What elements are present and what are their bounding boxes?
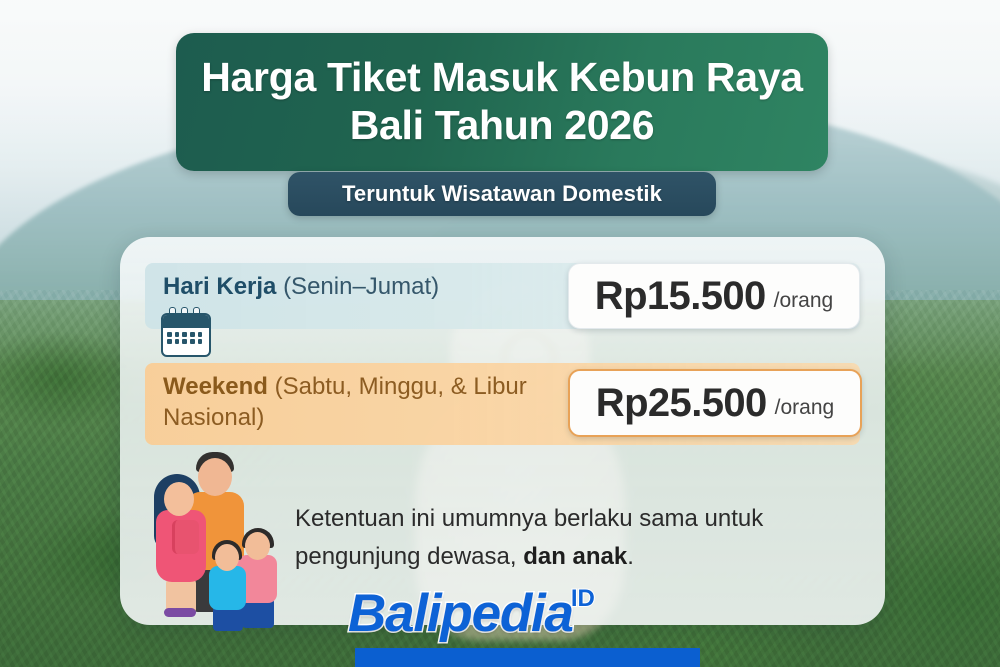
weekend-price-unit: /orang — [775, 396, 835, 420]
calendar-icon — [160, 307, 208, 355]
weekend-price-amount: Rp25.500 — [596, 381, 767, 426]
brand-name: Balipedia — [348, 583, 573, 644]
price-chip-weekend: Rp25.500 /orang — [568, 369, 862, 437]
note-bold: dan anak — [523, 543, 627, 570]
weekend-label-strong: Weekend — [163, 373, 268, 400]
subtitle-label: Teruntuk Wisatawan Domestik — [342, 181, 662, 207]
infographic-canvas: Harga Tiket Masuk Kebun Raya Bali Tahun … — [0, 0, 1000, 667]
weekend-label: Weekend (Sabtu, Minggu, & Libur Nasional… — [145, 363, 593, 433]
weekday-price-unit: /orang — [774, 289, 834, 313]
brand-bar — [355, 648, 700, 667]
note-text: Ketentuan ini umumnya berlaku sama untuk… — [295, 500, 855, 576]
title-line-1: Harga Tiket Masuk Kebun Raya — [201, 54, 803, 102]
weekday-label-strong: Hari Kerja — [163, 273, 276, 300]
brand-suffix: ID — [571, 585, 595, 613]
page-title: Harga Tiket Masuk Kebun Raya Bali Tahun … — [183, 54, 821, 150]
family-illustration — [150, 448, 290, 620]
weekday-label: Hari Kerja (Senin–Jumat) — [145, 263, 439, 303]
price-chip-weekday: Rp15.500 /orang — [568, 263, 860, 329]
balipedia-watermark: Balipedia ID — [348, 583, 708, 641]
title-line-2: Bali Tahun 2026 — [201, 102, 803, 150]
title-banner: Harga Tiket Masuk Kebun Raya Bali Tahun … — [176, 33, 828, 171]
note-part-2: . — [627, 543, 634, 570]
weekday-label-detail: (Senin–Jumat) — [283, 273, 439, 300]
subtitle-badge: Teruntuk Wisatawan Domestik — [288, 172, 716, 216]
weekday-price-amount: Rp15.500 — [595, 274, 766, 319]
weekend-label-detail-1: (Sabtu, Minggu, — [275, 373, 444, 400]
